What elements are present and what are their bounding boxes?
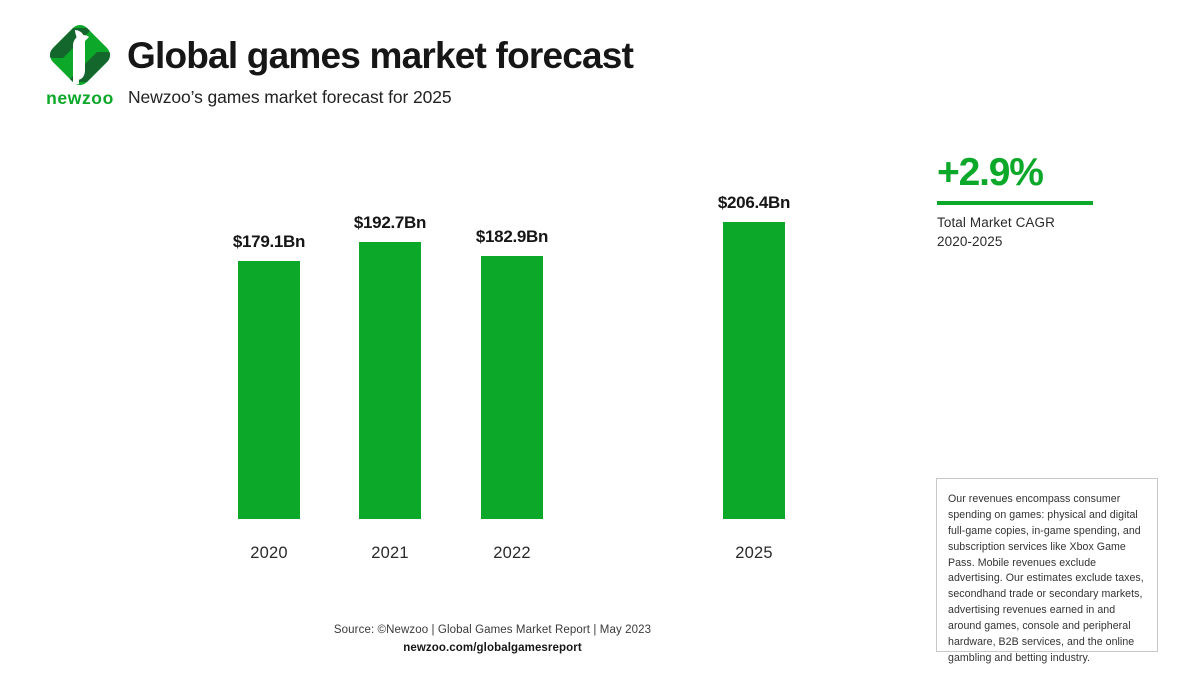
source-url[interactable]: newzoo.com/globalgamesreport bbox=[240, 642, 745, 654]
x-axis-label-2025: 2025 bbox=[689, 544, 819, 563]
source-citation: Source: ©Newzoo | Global Games Market Re… bbox=[240, 624, 745, 636]
methodology-footnote-text: Our revenues encompass consumer spending… bbox=[948, 492, 1148, 667]
bar-value-label-2020: $179.1Bn bbox=[204, 232, 334, 252]
methodology-footnote-box: Our revenues encompass consumer spending… bbox=[936, 478, 1158, 652]
bar-value-label-2022: $182.9Bn bbox=[447, 227, 577, 247]
source-block: Source: ©Newzoo | Global Games Market Re… bbox=[240, 624, 745, 654]
bar-2022[interactable] bbox=[481, 256, 543, 519]
bar-value-label-2025: $206.4Bn bbox=[689, 193, 819, 213]
bar-chart: $179.1Bn2020$192.7Bn2021$182.9Bn2022$206… bbox=[0, 0, 900, 600]
bar-value-label-2021: $192.7Bn bbox=[325, 213, 455, 233]
cagr-underline-rule bbox=[937, 201, 1093, 205]
x-axis-label-2021: 2021 bbox=[325, 544, 455, 563]
bar-2021[interactable] bbox=[359, 242, 421, 519]
cagr-caption-title: Total Market CAGR bbox=[937, 214, 1167, 233]
cagr-callout: +2.9% Total Market CAGR 2020-2025 bbox=[937, 152, 1167, 251]
x-axis-label-2022: 2022 bbox=[447, 544, 577, 563]
x-axis-label-2020: 2020 bbox=[204, 544, 334, 563]
cagr-caption-period: 2020-2025 bbox=[937, 233, 1167, 252]
infographic-canvas: newzoo Global games market forecast Newz… bbox=[0, 0, 1200, 675]
cagr-value: +2.9% bbox=[937, 152, 1167, 195]
bar-2025[interactable] bbox=[723, 222, 785, 519]
bar-2020[interactable] bbox=[238, 261, 300, 519]
